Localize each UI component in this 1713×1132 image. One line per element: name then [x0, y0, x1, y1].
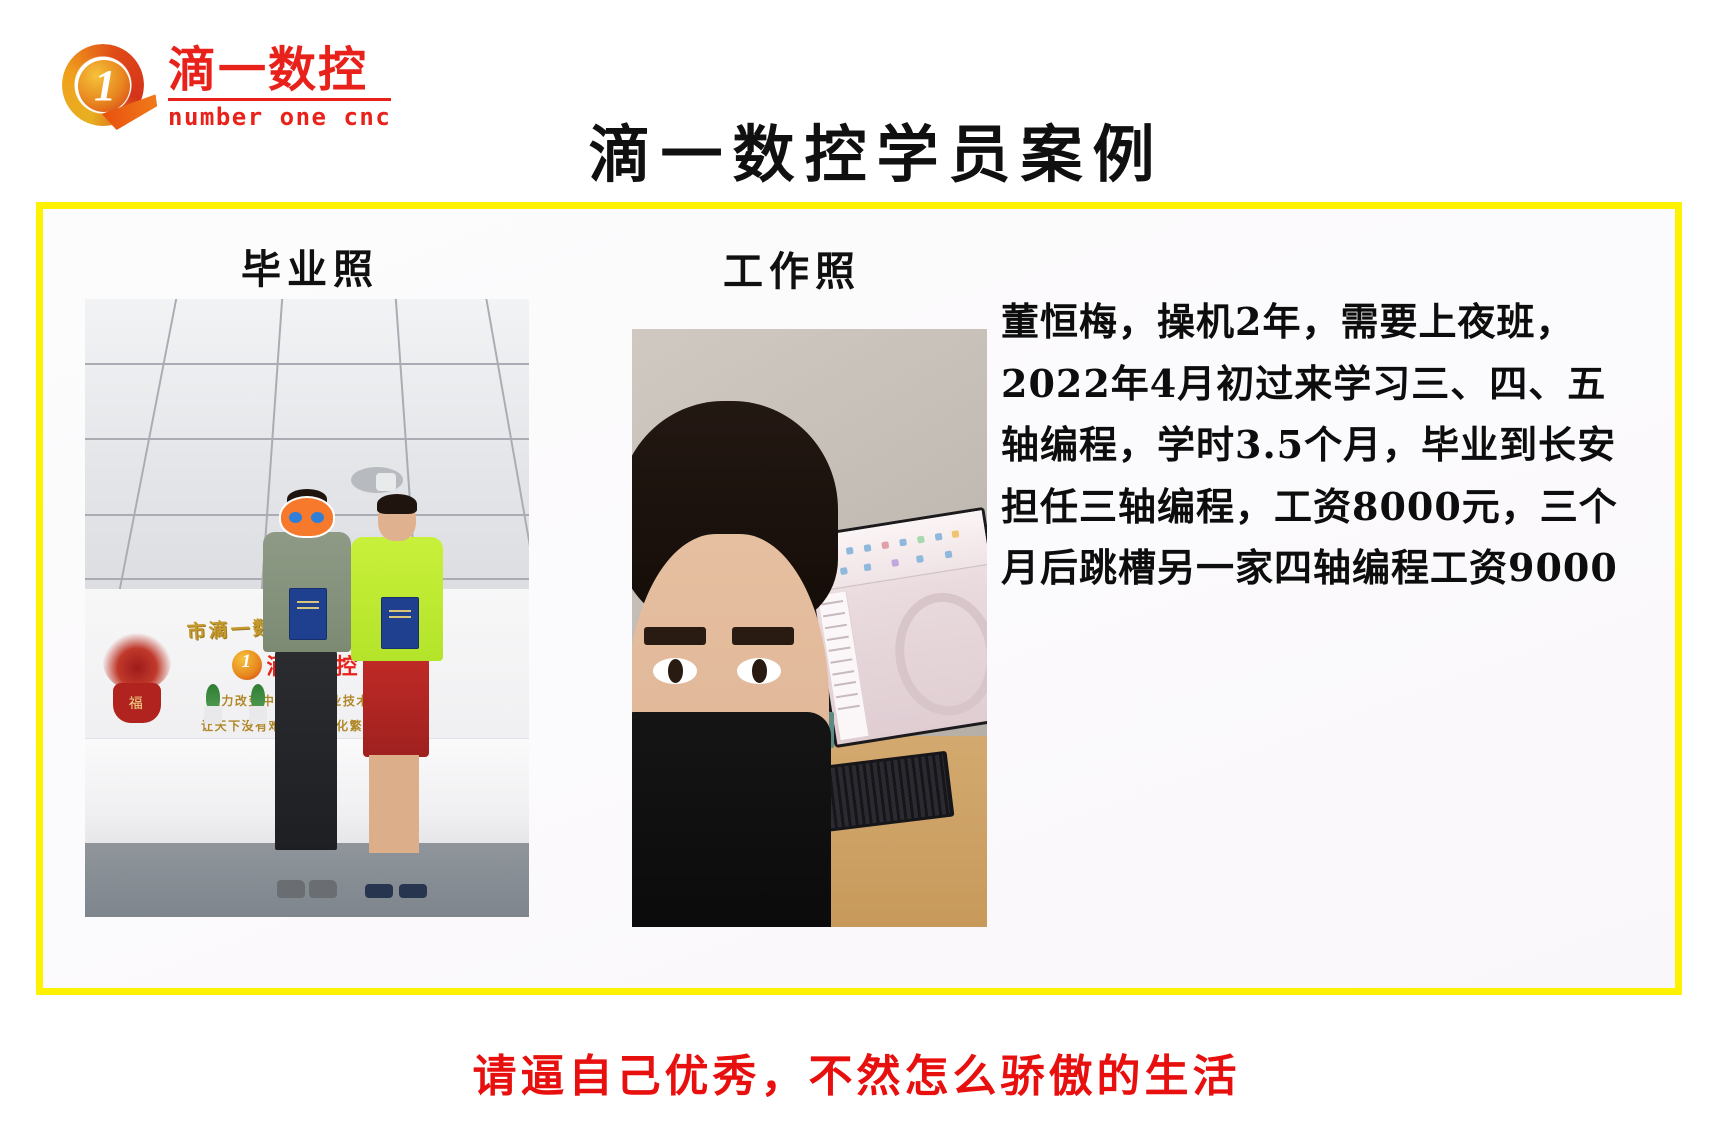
graduate-person-right [351, 497, 443, 892]
footer-slogan: 请逼自己优秀，不然怎么骄傲的生活 [0, 1040, 1713, 1104]
potted-plant-left [200, 682, 226, 724]
caption-graduation-photo: 毕业照 [241, 237, 379, 295]
page-header: 1 滴一数控 number one cnc 滴一数控学员案例 [0, 0, 1713, 200]
graduation-photo: 市滴一数控技术有限公司 滴一数控 致力改变中国数控行业技术保守现象 让天下没有难… [85, 299, 529, 917]
page-title: 滴一数控学员案例 [0, 104, 1713, 194]
content-panel: 毕业照 工作照 市滴一数控技术有限公司 滴一数控 致力改变中国数控行业技术保守现… [36, 202, 1682, 995]
student-case-description: 董恒梅，操机2年，需要上夜班，2022年4月初过来学习三、四、五轴编程，学时3.… [1001, 291, 1641, 599]
certificate-right [381, 597, 419, 649]
face-sticker-icon [279, 496, 335, 538]
logo-numeral-one: 1 [94, 64, 116, 108]
student-torso [632, 712, 831, 927]
flower-arrangement [103, 633, 171, 723]
certificate-left [289, 588, 327, 640]
graduate-person-left [263, 492, 351, 892]
work-photo [632, 329, 987, 927]
cad-3d-part-model [887, 586, 987, 723]
logo-chinese-name: 滴一数控 [168, 45, 391, 95]
caption-work-photo: 工作照 [723, 239, 861, 297]
vase-fu-character [113, 683, 161, 723]
wall-logo-circle-icon [232, 650, 262, 680]
